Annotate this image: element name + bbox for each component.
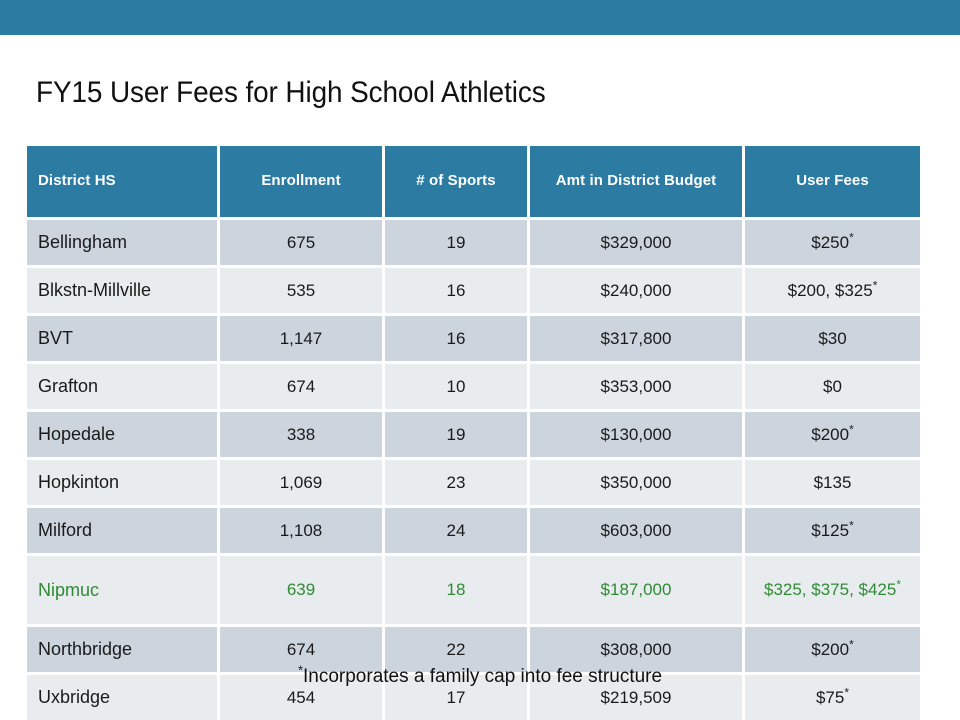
cell-enrollment: 675: [220, 217, 385, 265]
cell-district: Grafton: [27, 361, 220, 409]
table-row: Bellingham67519$329,000$250*: [27, 217, 920, 265]
cell-user-fees: $325, $375, $425*: [745, 553, 920, 624]
top-accent-banner: [0, 0, 960, 35]
cell-district: Bellingham: [27, 217, 220, 265]
fee-footnote-star: *: [849, 422, 854, 436]
table-row: Grafton67410$353,000$0: [27, 361, 920, 409]
cell-user-fees: $30: [745, 313, 920, 361]
cell-sports: 18: [385, 553, 530, 624]
cell-sports: 10: [385, 361, 530, 409]
cell-district: Hopkinton: [27, 457, 220, 505]
cell-district: Hopedale: [27, 409, 220, 457]
page-title: FY15 User Fees for High School Athletics: [36, 76, 546, 110]
column-header-enrollment: Enrollment: [220, 146, 385, 217]
fee-footnote-star: *: [849, 230, 854, 244]
cell-budget: $350,000: [530, 457, 745, 505]
table-row: Northbridge67422$308,000$200*: [27, 624, 920, 672]
cell-user-fees: $0: [745, 361, 920, 409]
cell-enrollment: 639: [220, 553, 385, 624]
cell-budget: $329,000: [530, 217, 745, 265]
cell-sports: 22: [385, 624, 530, 672]
table-row: Nipmuc63918$187,000$325, $375, $425*: [27, 553, 920, 624]
cell-budget: $317,800: [530, 313, 745, 361]
footnote-text: Incorporates a family cap into fee struc…: [303, 666, 662, 687]
cell-enrollment: 674: [220, 361, 385, 409]
table-row: Blkstn-Millville53516$240,000$200, $325*: [27, 265, 920, 313]
cell-district: Nipmuc: [27, 553, 220, 624]
table-body: Bellingham67519$329,000$250*Blkstn-Millv…: [27, 217, 920, 720]
fee-footnote-star: *: [849, 637, 854, 651]
cell-enrollment: 1,108: [220, 505, 385, 553]
cell-budget: $603,000: [530, 505, 745, 553]
cell-sports: 16: [385, 313, 530, 361]
fee-footnote-star: *: [896, 578, 901, 592]
cell-user-fees: $125*: [745, 505, 920, 553]
column-header-user-fees: User Fees: [745, 146, 920, 217]
cell-district: BVT: [27, 313, 220, 361]
cell-district: Northbridge: [27, 624, 220, 672]
cell-enrollment: 338: [220, 409, 385, 457]
cell-district: Blkstn-Millville: [27, 265, 220, 313]
cell-user-fees: $250*: [745, 217, 920, 265]
cell-user-fees: $135: [745, 457, 920, 505]
user-fees-table: District HS Enrollment # of Sports Amt i…: [27, 146, 920, 720]
cell-enrollment: 535: [220, 265, 385, 313]
cell-budget: $130,000: [530, 409, 745, 457]
cell-user-fees: $200*: [745, 409, 920, 457]
cell-sports: 23: [385, 457, 530, 505]
cell-sports: 19: [385, 409, 530, 457]
fee-footnote-star: *: [849, 518, 854, 532]
cell-district: Milford: [27, 505, 220, 553]
table-row: Hopkinton1,06923$350,000$135: [27, 457, 920, 505]
cell-budget: $308,000: [530, 624, 745, 672]
cell-budget: $353,000: [530, 361, 745, 409]
fee-footnote-star: *: [873, 278, 878, 292]
column-header-budget: Amt in District Budget: [530, 146, 745, 217]
table-header-row: District HS Enrollment # of Sports Amt i…: [27, 146, 920, 217]
cell-user-fees: $200, $325*: [745, 265, 920, 313]
cell-user-fees: $200*: [745, 624, 920, 672]
table-row: Hopedale33819$130,000$200*: [27, 409, 920, 457]
table-header: District HS Enrollment # of Sports Amt i…: [27, 146, 920, 217]
table-row: Milford1,10824$603,000$125*: [27, 505, 920, 553]
cell-sports: 24: [385, 505, 530, 553]
cell-sports: 19: [385, 217, 530, 265]
cell-sports: 16: [385, 265, 530, 313]
cell-budget: $240,000: [530, 265, 745, 313]
column-header-district: District HS: [27, 146, 220, 217]
column-header-sports: # of Sports: [385, 146, 530, 217]
table-row: BVT1,14716$317,800$30: [27, 313, 920, 361]
cell-budget: $187,000: [530, 553, 745, 624]
cell-enrollment: 1,147: [220, 313, 385, 361]
table-footnote: *Incorporates a family cap into fee stru…: [0, 666, 960, 688]
cell-enrollment: 1,069: [220, 457, 385, 505]
